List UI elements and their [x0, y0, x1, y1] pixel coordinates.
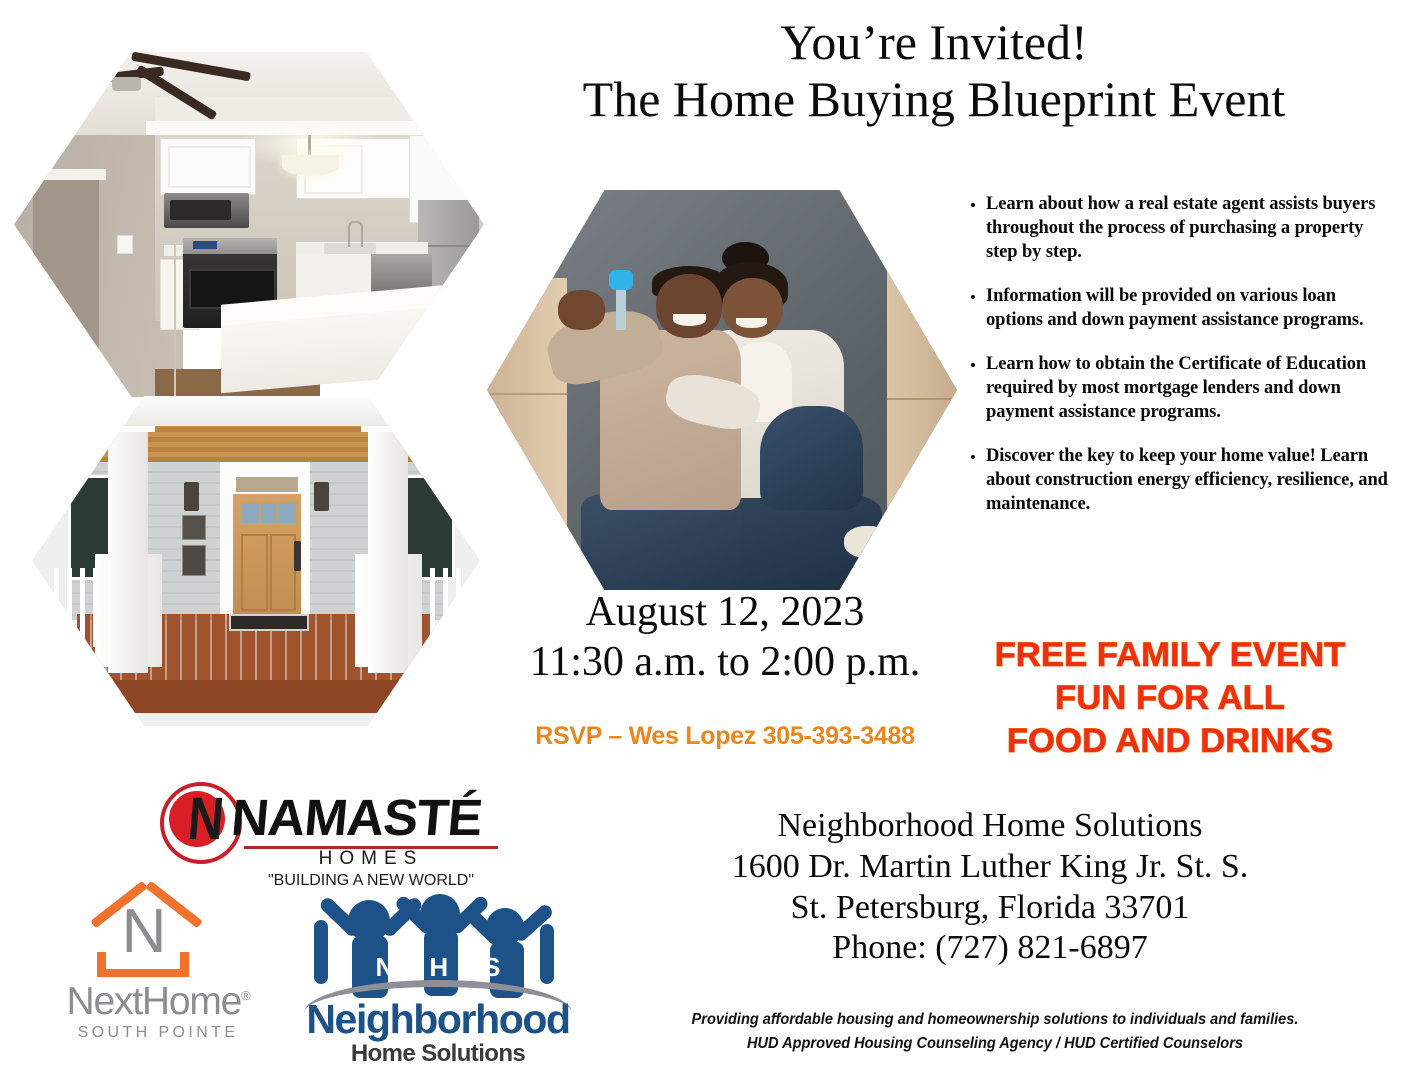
page-title: You’re Invited! The Home Buying Blueprin…	[470, 14, 1398, 128]
organization-address-line-2: St. Petersburg, Florida 33701	[620, 888, 1360, 929]
namaste-logo-letter: N	[181, 790, 232, 848]
event-time: 11:30 a.m. to 2:00 p.m.	[490, 638, 960, 688]
headline-line-1: You’re Invited!	[470, 14, 1398, 71]
promo-banner: FREE FAMILY EVENT FUN FOR ALL FOOD AND D…	[960, 636, 1380, 765]
list-item: Learn how to obtain the Certificate of E…	[986, 352, 1390, 424]
tagline-line-1: Providing affordable housing and homeown…	[624, 1008, 1367, 1032]
headline-line-2: The Home Buying Blueprint Event	[470, 71, 1398, 128]
neighborhood-home-solutions-logo: NHS Neighborhood Home Solutions	[296, 894, 580, 1066]
organization-phone: Phone: (727) 821-6897	[620, 928, 1360, 969]
promo-line-2: FUN FOR ALL	[956, 679, 1384, 717]
list-item: Learn about how a real estate agent assi…	[986, 192, 1390, 264]
event-datetime: August 12, 2023 11:30 a.m. to 2:00 p.m.	[490, 588, 960, 687]
nhs-wordmark: Neighborhood	[296, 996, 580, 1043]
registered-mark-icon: ®	[241, 988, 249, 1003]
nhs-subtitle: Home Solutions	[296, 1040, 580, 1068]
nexthome-name: NextHome	[66, 980, 241, 1023]
namaste-wordmark: NAMASTÉ	[229, 788, 484, 847]
organization-tagline: Providing affordable housing and homeown…	[600, 1008, 1390, 1056]
promo-line-3: FOOD AND DRINKS	[956, 722, 1384, 760]
kitchen-interior-photo	[14, 52, 484, 397]
nexthome-locale: SOUTH POINTE	[58, 1024, 258, 1042]
tagline-line-2: HUD Approved Housing Counseling Agency /…	[624, 1032, 1367, 1056]
organization-contact-block: Neighborhood Home Solutions 1600 Dr. Mar…	[620, 806, 1360, 969]
flyer-page: You’re Invited! The Home Buying Blueprin…	[0, 0, 1408, 1088]
namaste-homes-logo: N NAMASTÉ HOMES "BUILDING A NEW WORLD"	[160, 780, 510, 880]
nexthome-south-pointe-logo: N NextHome® SOUTH POINTE	[60, 866, 280, 1046]
nexthome-logo-letter: N	[115, 902, 173, 962]
promo-line-1: FREE FAMILY EVENT	[956, 636, 1384, 674]
organization-address-line-1: 1600 Dr. Martin Luther King Jr. St. S.	[620, 847, 1360, 888]
event-benefits-list: Learn about how a real estate agent assi…	[960, 192, 1390, 537]
couple-with-keys-photo	[487, 190, 957, 590]
list-item: Discover the key to keep your home value…	[986, 444, 1390, 516]
event-date: August 12, 2023	[490, 588, 960, 638]
nexthome-wordmark: NextHome®	[58, 980, 258, 1024]
house-base-bottom-icon	[97, 969, 189, 977]
front-porch-photo	[32, 396, 480, 726]
rsvp-contact: RSVP – Wes Lopez 305-393-3488	[480, 722, 970, 751]
list-item: Information will be provided on various …	[986, 284, 1390, 332]
nhs-initials: NHS	[296, 952, 580, 983]
organization-name: Neighborhood Home Solutions	[620, 806, 1360, 847]
namaste-subtitle: HOMES	[244, 848, 498, 870]
